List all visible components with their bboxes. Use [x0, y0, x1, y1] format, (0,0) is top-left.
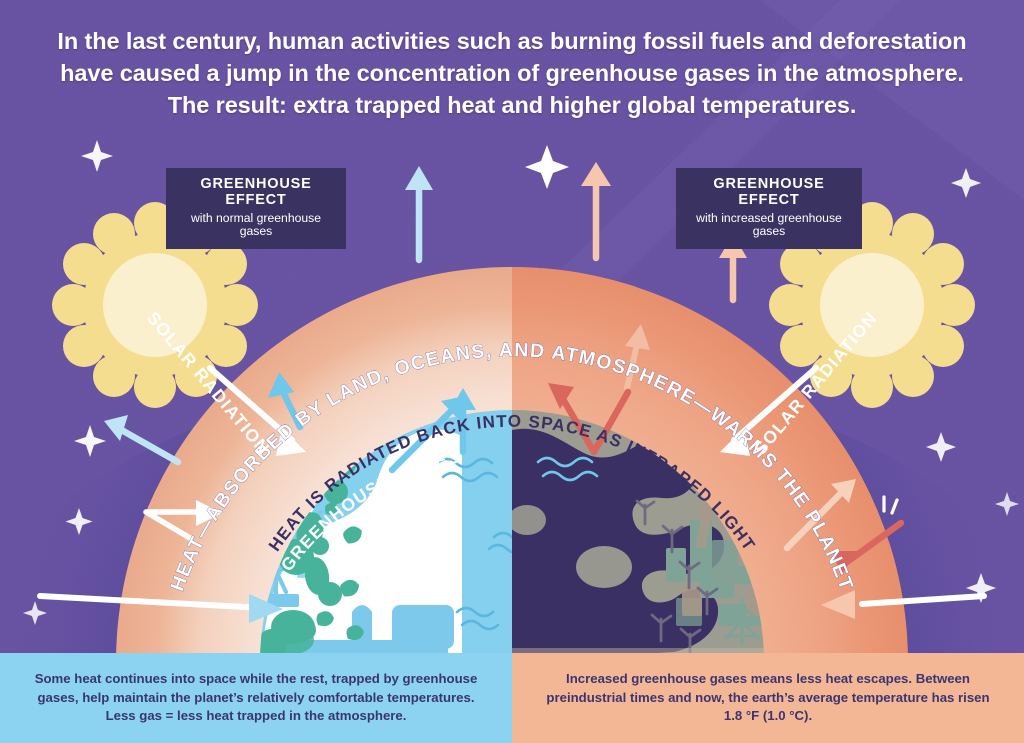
- badge-left-subtitle: with normal greenhouse gases: [180, 212, 332, 239]
- badge-greenhouse-effect-normal: GREENHOUSE EFFECT with normal greenhouse…: [166, 168, 346, 249]
- caption-right: Increased greenhouse gases means less he…: [512, 653, 1024, 743]
- badge-left-title: GREENHOUSE EFFECT: [180, 177, 332, 209]
- headline-line-1: In the last century, human activities su…: [36, 26, 988, 58]
- headline: In the last century, human activities su…: [0, 26, 1024, 122]
- badge-right-title: GREENHOUSE EFFECT: [690, 177, 848, 209]
- infographic-canvas: HEAT—ABSORBED BY LAND, OCEANS, AND ATMOS…: [0, 0, 1024, 743]
- headline-line-3: The result: extra trapped heat and highe…: [36, 90, 988, 122]
- caption-left: Some heat continues into space while the…: [0, 653, 512, 743]
- badge-right-subtitle: with increased greenhouse gases: [690, 212, 848, 239]
- headline-line-2: have caused a jump in the concentration …: [36, 58, 988, 90]
- badge-greenhouse-effect-increased: GREENHOUSE EFFECT with increased greenho…: [676, 168, 862, 249]
